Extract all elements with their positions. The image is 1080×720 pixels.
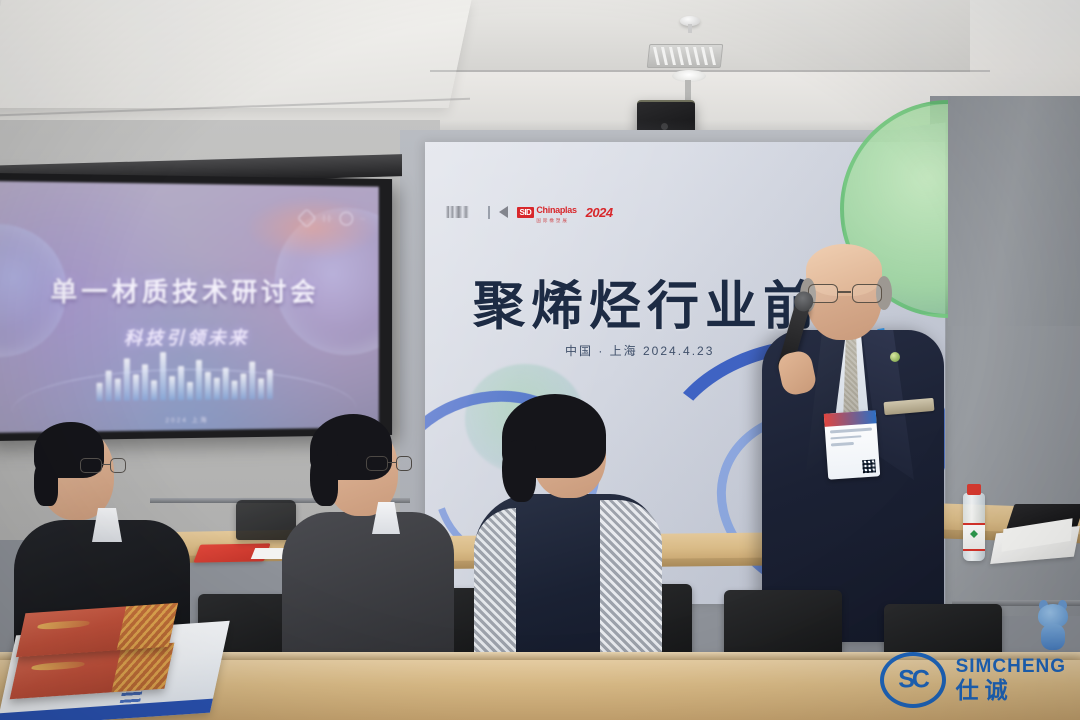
- diamond-mark-icon: [297, 208, 316, 228]
- projection-screen: ·|·|· ·· 单一材质技术研讨会 科技引领未来 2024 上海: [0, 181, 379, 433]
- slide-logo-text-1: ·|·|·: [321, 215, 334, 222]
- gift-box-ornament: [112, 643, 175, 692]
- logo-text-block: SIMCHENG 仕诚: [956, 657, 1066, 703]
- brand-name-text: Chinaplas: [536, 205, 576, 215]
- gift-box-ornament: [117, 603, 178, 650]
- logo-monogram-text: SC: [898, 666, 927, 695]
- bottle-label-mark-icon: [970, 530, 978, 538]
- brand-divider: [488, 206, 490, 219]
- ceiling-seam: [430, 70, 990, 72]
- brand-mark-text: SID: [517, 207, 535, 218]
- simcheng-logo-watermark: SC SIMCHENG 仕诚: [880, 652, 1066, 708]
- slide-logo-text-2: ··: [360, 215, 365, 222]
- eyeglasses-icon: [366, 456, 410, 470]
- logo-english-name: SIMCHENG: [956, 657, 1066, 676]
- slide-flare: [239, 193, 378, 263]
- conference-badge: [824, 410, 880, 479]
- logo-chinese-name: 仕诚: [956, 678, 1066, 703]
- lapel-pin-icon: [890, 352, 900, 362]
- badge-header: [824, 410, 877, 427]
- brand-signature-mark-icon: [445, 206, 479, 218]
- projection-screen-frame: ·|·|· ·· 单一材质技术研讨会 科技引领未来 2024 上海: [0, 173, 392, 441]
- backdrop-subtitle: 中国 · 上海 2024.4.23: [565, 342, 714, 359]
- water-bottle: [963, 493, 985, 561]
- circle-mark-icon: [340, 212, 353, 226]
- mascot-figure: [1036, 604, 1070, 650]
- backdrop-brand-row: SID Chinaplas 国际橡塑展 2024: [445, 200, 613, 224]
- sc-monogram-icon: SC: [880, 652, 946, 708]
- badge-line: [830, 435, 861, 440]
- bottle-cap: [967, 484, 981, 495]
- eyeglasses-icon: [808, 284, 880, 302]
- air-vent: [647, 44, 724, 68]
- bottle-label: [963, 523, 985, 551]
- ceiling-panel: [0, 0, 471, 108]
- screenshot-root: ·|·|· ·· 单一材质技术研讨会 科技引领未来 2024 上海: [0, 0, 1080, 720]
- brand-year-text: 2024: [586, 205, 613, 220]
- wall-occluder: [948, 96, 1080, 326]
- eyeglasses-icon: [80, 458, 124, 472]
- brand-triangle-icon: [499, 206, 508, 218]
- gift-box-gold-accent: [37, 620, 90, 631]
- chinaplas-logo: SID Chinaplas 国际橡塑展: [517, 200, 577, 224]
- smoke-detector-stem: [688, 24, 692, 33]
- attendee-checked-sleeve: [474, 508, 516, 658]
- brand-sub-text: 国际橡塑展: [536, 218, 576, 224]
- badge-line: [831, 442, 855, 446]
- slide-logo-row: ·|·|· ··: [300, 211, 365, 225]
- mascot-body: [1041, 624, 1065, 650]
- badge-line: [830, 428, 872, 433]
- slide-title: 单一材质技术研讨会: [0, 271, 379, 309]
- gift-box-gold-accent: [31, 661, 85, 672]
- qr-code-icon: [862, 459, 876, 473]
- attendee-checked-sleeve: [600, 500, 662, 670]
